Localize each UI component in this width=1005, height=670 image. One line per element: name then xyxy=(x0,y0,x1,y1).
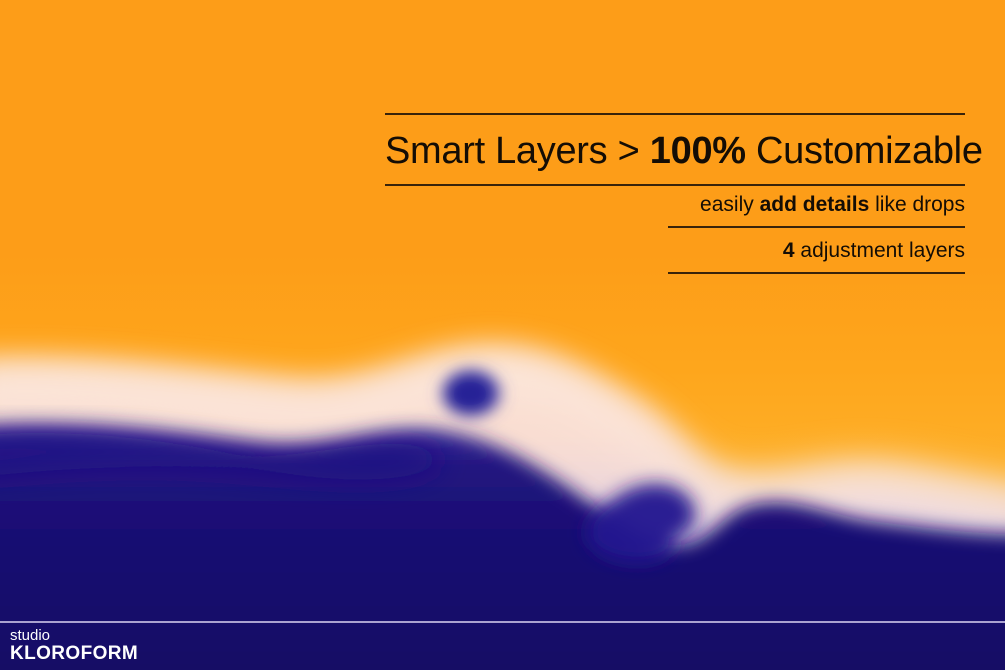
subline-1-suffix: like drops xyxy=(869,193,965,216)
logo-studio-word: studio xyxy=(10,628,138,644)
subline-rule-1 xyxy=(668,226,965,228)
headline-text: Smart Layers > 100% Customizable xyxy=(385,115,965,184)
headline-block: Smart Layers > 100% Customizable xyxy=(385,113,965,186)
droplet xyxy=(437,367,505,423)
headline-suffix: Customizable xyxy=(746,130,983,172)
studio-logo: studio KLOROFORM xyxy=(10,628,138,665)
subline-1: easily add details like drops xyxy=(668,182,965,226)
subline-2-suffix: adjustment layers xyxy=(795,239,965,262)
headline-prefix: Smart Layers > xyxy=(385,130,650,172)
subline-rule-2 xyxy=(668,272,965,274)
subline-1-emphasis: add details xyxy=(760,193,870,216)
subline-block: easily add details like drops 4 adjustme… xyxy=(668,182,965,274)
subline-1-prefix: easily xyxy=(700,193,760,216)
subline-2: 4 adjustment layers xyxy=(668,228,965,272)
logo-brand-word: KLOROFORM xyxy=(10,644,138,665)
wave-artwork xyxy=(0,0,1005,670)
logo-divider xyxy=(0,621,1005,623)
headline-emphasis: 100% xyxy=(650,130,746,172)
headline-rule-top xyxy=(385,113,965,115)
subline-2-emphasis: 4 xyxy=(783,239,795,262)
poster-canvas: Smart Layers > 100% Customizable easily … xyxy=(0,0,1005,670)
